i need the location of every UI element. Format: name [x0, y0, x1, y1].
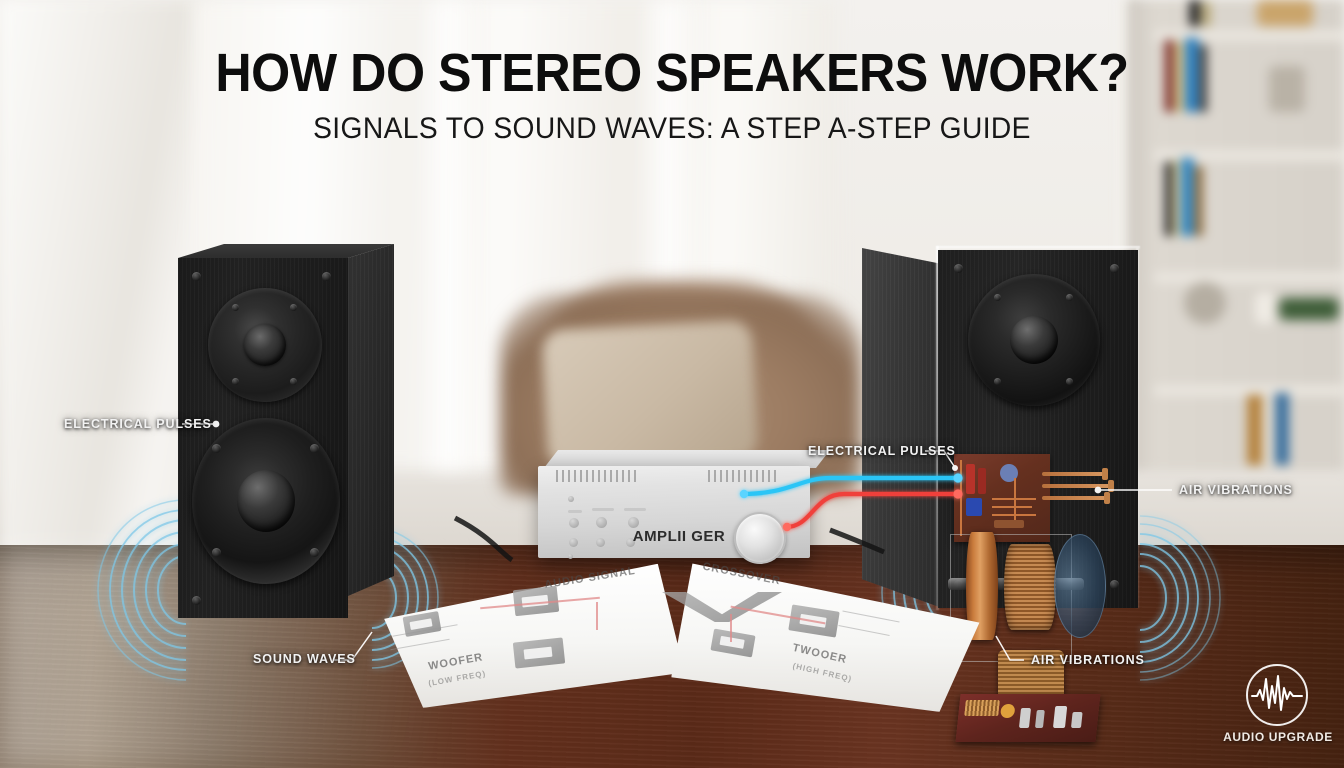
right-speaker-side-panel: [862, 248, 942, 608]
brand-logo: AUDIO UPGRADE: [1232, 664, 1324, 756]
callout-air-vibrations-right: AIR VIBRATIONS: [1179, 483, 1293, 497]
page-title: HOW DO STEREO SPEAKERS WORK?: [47, 42, 1297, 104]
amplifier-slot-2: [592, 508, 614, 511]
callout-air-vibrations-bottom: AIR VIBRATIONS: [1031, 653, 1145, 667]
voice-coil: [1004, 544, 1056, 630]
brand-logo-text: AUDIO UPGRADE: [1222, 730, 1334, 744]
open-manual-book: AUDIO SIGNAL CROSSOVER WOOFER (LOW FREQ)…: [372, 556, 992, 716]
book-left-page: [371, 563, 685, 708]
crossover-leads: [1042, 468, 1116, 512]
waveform-circle-icon: [1246, 664, 1308, 726]
book-diagram-block-3: [513, 637, 565, 668]
speaker-cone-diaphragm: [1054, 534, 1106, 638]
amplifier-slot-3: [624, 508, 646, 511]
amplifier-indicator-led: [568, 496, 574, 502]
amplifier-button-1[interactable]: [569, 538, 578, 547]
left-speaker-front-baffle: [178, 258, 348, 618]
callout-electrical-pulses-right: ELECTRICAL PULSES: [808, 444, 956, 458]
left-speaker-side: [348, 244, 394, 596]
amplifier-slot-1: [568, 510, 582, 513]
amplifier-knob-3[interactable]: [628, 517, 639, 528]
book-trace-4: [730, 614, 732, 642]
cushion: [541, 320, 758, 471]
right-speaker-tweeter: [968, 274, 1100, 406]
amplifier-knob-2[interactable]: [596, 517, 607, 528]
amplifier-button-2[interactable]: [596, 538, 605, 547]
left-speaker: [178, 244, 392, 618]
callout-electrical-pulses-left: ELECTRICAL PULSES: [64, 417, 212, 431]
amplifier: AMPLII GER: [538, 450, 830, 562]
amplifier-brand-label: AMPLII GER: [624, 528, 734, 545]
left-speaker-tweeter: [208, 288, 322, 402]
infographic-canvas: AMPLII GER AUDIO SIGNAL CROSSOVER WOOFER…: [0, 0, 1344, 768]
book-trace-2: [596, 602, 598, 630]
page-subtitle: SIGNALS TO SOUND WAVES: A STEP A-STEP GU…: [40, 112, 1303, 146]
crossover-circuit-board: [954, 454, 1050, 542]
callout-sound-waves-left: SOUND WAVES: [253, 652, 356, 666]
amplifier-knob-1[interactable]: [569, 518, 579, 528]
amplifier-front-panel: AMPLII GER: [538, 466, 810, 558]
left-speaker-woofer: [192, 418, 340, 584]
